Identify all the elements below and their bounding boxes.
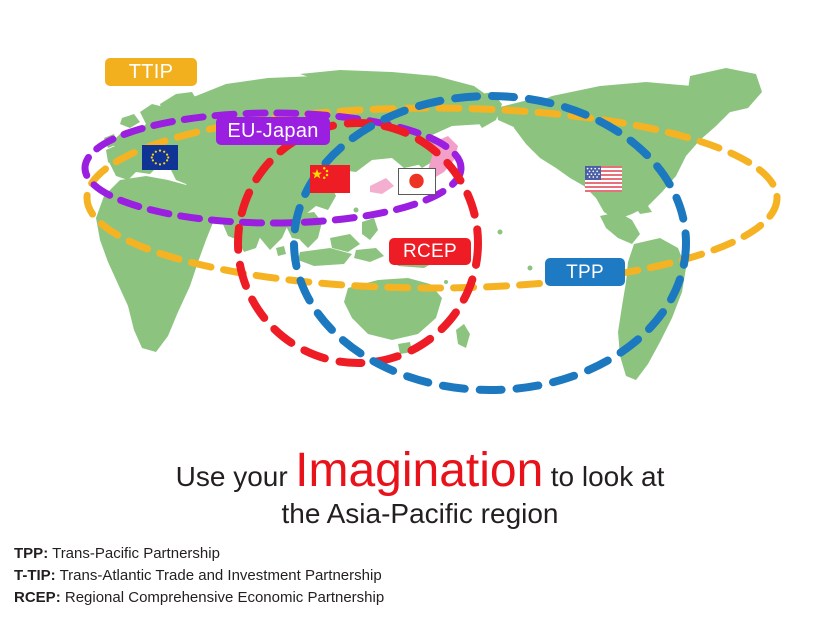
label-eu-japan: EU-Japan xyxy=(216,117,330,145)
legend-text-rcep: Regional Comprehensive Economic Partners… xyxy=(61,589,385,606)
china-flag xyxy=(310,165,350,193)
european-union-flag xyxy=(142,145,178,170)
tagline-line2-text: the Asia-Pacific region xyxy=(281,498,558,529)
china-flag-svg xyxy=(310,165,350,193)
legend-item-rcep: RCEP: Regional Comprehensive Economic Pa… xyxy=(14,587,614,609)
world-map-graphic: TTIP EU-Japan RCEP TPP xyxy=(0,0,840,440)
tagline-before: Use your xyxy=(176,461,288,492)
tagline-line-2: the Asia-Pacific region xyxy=(0,499,840,529)
tagline-line-1: Use your Imagination to look at xyxy=(0,445,840,497)
abbreviation-legend: TPP: Trans-Pacific Partnership T-TIP: Tr… xyxy=(14,543,614,609)
land-newzealand xyxy=(456,324,470,348)
japan-flag-svg xyxy=(399,169,434,193)
land-philippines xyxy=(362,218,378,240)
legend-text-tpp: Trans-Pacific Partnership xyxy=(48,545,220,562)
land-iceland xyxy=(120,114,140,128)
legend-text-ttip: Trans-Atlantic Trade and Investment Part… xyxy=(56,567,382,584)
land-island-speck-4 xyxy=(354,208,359,213)
land-island-speck-2 xyxy=(498,230,503,235)
label-tpp: TPP xyxy=(545,258,625,286)
legend-abbr-ttip: T-TIP xyxy=(14,567,51,584)
legend-item-tpp: TPP: Trans-Pacific Partnership xyxy=(14,543,614,565)
japan-highlight-tail xyxy=(370,178,394,194)
japan-flag xyxy=(398,168,436,195)
label-ttip: TTIP xyxy=(105,58,197,86)
label-rcep: RCEP xyxy=(389,238,471,265)
eu-flag-svg xyxy=(142,145,178,170)
land-island-speck-6 xyxy=(444,280,448,284)
tagline: Use your Imagination to look at the Asia… xyxy=(0,445,840,529)
tagline-accent-word: Imagination xyxy=(295,444,543,497)
tagline-after: to look at xyxy=(551,461,665,492)
united-states-flag xyxy=(585,166,622,192)
land-indonesia-2 xyxy=(354,248,384,262)
legend-abbr-tpp: TPP xyxy=(14,545,43,562)
land-south-america xyxy=(618,238,686,380)
land-central-america xyxy=(600,212,640,244)
legend-item-ttip: T-TIP: Trans-Atlantic Trade and Investme… xyxy=(14,565,614,587)
land-sri-lanka xyxy=(276,246,286,256)
legend-abbr-rcep: RCEP xyxy=(14,589,56,606)
us-flag-svg xyxy=(585,166,622,192)
land-island-speck-3 xyxy=(528,266,533,271)
